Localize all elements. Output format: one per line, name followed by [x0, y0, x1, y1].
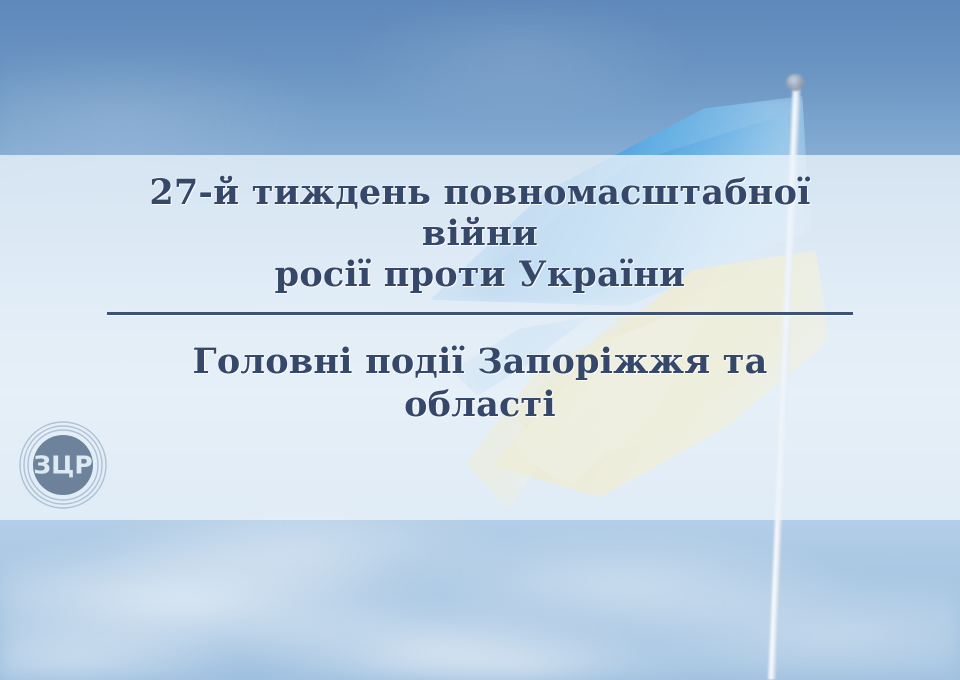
page-subtitle-line-1: Головні події Запоріжжя та [90, 341, 870, 384]
banner-card: 27-й тиждень повномасштабної війни росії… [0, 0, 960, 680]
page-title-line-1: 27-й тиждень повномасштабної [60, 173, 900, 214]
page-title-line-2: війни [60, 214, 900, 255]
zcr-logo-text: ЗЦР [33, 451, 92, 480]
flagpole-finial-icon [786, 74, 805, 91]
page-title-line-3: росії проти України [60, 255, 900, 296]
zcr-circular-logo: ЗЦР [18, 420, 108, 510]
page-subtitle-line-2: області [90, 384, 870, 427]
content-band: 27-й тиждень повномасштабної війни росії… [0, 155, 960, 520]
page-subtitle: Головні події Запоріжжя та області [0, 315, 960, 426]
page-title: 27-й тиждень повномасштабної війни росії… [0, 155, 960, 296]
